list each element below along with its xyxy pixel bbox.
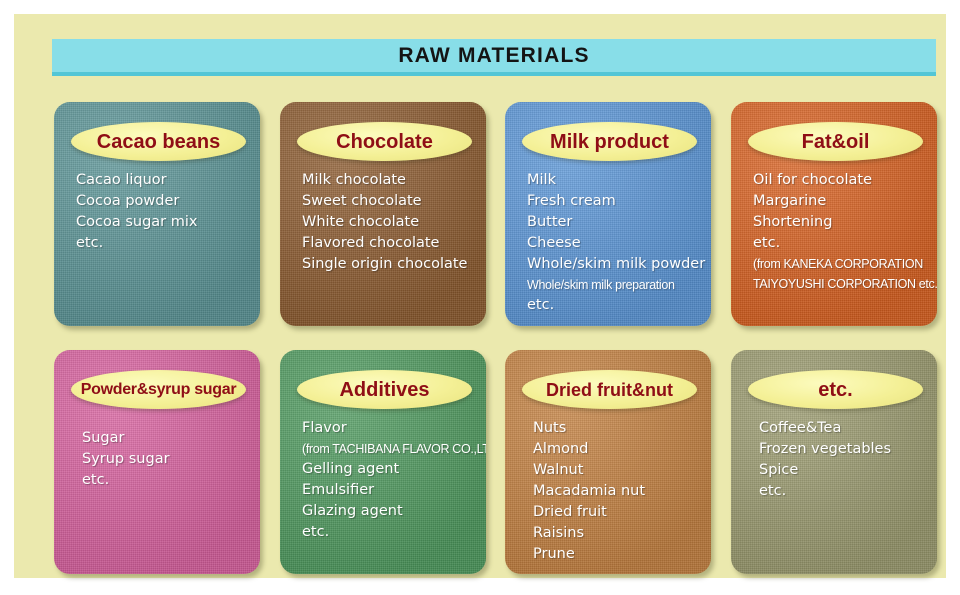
list-item: Margarine: [753, 191, 929, 212]
list-item: Butter: [527, 212, 703, 233]
list-item: (from KANEKA CORPORATION: [753, 254, 929, 274]
card-title-dried-fruit-and-nut: Dried fruit&nut: [546, 381, 673, 399]
list-item: Milk: [527, 170, 703, 191]
card-item-list-fat-and-oil: Oil for chocolateMargarineShorteningetc.…: [753, 170, 929, 294]
list-item: Milk chocolate: [302, 170, 478, 191]
list-item: Shortening: [753, 212, 929, 233]
list-item: TAIYOYUSHI CORPORATION etc.): [753, 274, 929, 294]
category-card-etc: etc.Coffee&TeaFrozen vegetablesSpiceetc.: [731, 350, 937, 574]
list-item: etc.: [759, 481, 929, 502]
card-item-list-cacao-beans: Cacao liquorCocoa powderCocoa sugar mixe…: [76, 170, 252, 254]
category-card-chocolate: ChocolateMilk chocolateSweet chocolateWh…: [280, 102, 486, 326]
card-item-list-etc: Coffee&TeaFrozen vegetablesSpiceetc.: [759, 418, 929, 502]
card-item-list-chocolate: Milk chocolateSweet chocolateWhite choco…: [302, 170, 478, 275]
list-item: Frozen vegetables: [759, 439, 929, 460]
card-title-ellipse-cacao-beans: Cacao beans: [71, 122, 246, 161]
list-item: Cocoa sugar mix: [76, 212, 252, 233]
card-title-cacao-beans: Cacao beans: [97, 132, 220, 152]
card-title-powder-and-syrup-sugar: Powder&syrup sugar: [81, 382, 237, 398]
card-title-ellipse-chocolate: Chocolate: [297, 122, 472, 161]
list-item: Emulsifier: [302, 480, 478, 501]
card-item-list-additives: Flavor(from TACHIBANA FLAVOR CO.,LTD)Gel…: [302, 418, 478, 543]
card-title-ellipse-fat-and-oil: Fat&oil: [748, 122, 923, 161]
list-item: (from TACHIBANA FLAVOR CO.,LTD): [302, 439, 478, 459]
card-title-milk-product: Milk product: [550, 132, 669, 152]
list-item: etc.: [527, 295, 703, 316]
content-panel: RAW MATERIALS Cacao beansCacao liquorCoc…: [14, 14, 946, 578]
list-item: Spice: [759, 460, 929, 481]
list-item: Cheese: [527, 233, 703, 254]
list-item: Gelling agent: [302, 459, 478, 480]
list-item: White chocolate: [302, 212, 478, 233]
list-item: Walnut: [533, 460, 703, 481]
list-item: Sweet chocolate: [302, 191, 478, 212]
card-item-list-powder-and-syrup-sugar: SugarSyrup sugaretc.: [82, 428, 252, 491]
page-title: RAW MATERIALS: [52, 39, 936, 72]
category-card-grid: Cacao beansCacao liquorCocoa powderCocoa…: [54, 102, 940, 574]
list-item: etc.: [82, 470, 252, 491]
category-card-fat-and-oil: Fat&oilOil for chocolateMargarineShorten…: [731, 102, 937, 326]
card-item-list-milk-product: MilkFresh creamButterCheeseWhole/skim mi…: [527, 170, 703, 316]
list-item: Dried fruit: [533, 502, 703, 523]
list-item: Syrup sugar: [82, 449, 252, 470]
card-title-chocolate: Chocolate: [336, 132, 433, 152]
list-item: Flavor: [302, 418, 478, 439]
card-item-list-dried-fruit-and-nut: NutsAlmondWalnutMacadamia nutDried fruit…: [533, 418, 703, 565]
list-item: Whole/skim milk powder: [527, 254, 703, 275]
list-item: Nuts: [533, 418, 703, 439]
list-item: Sugar: [82, 428, 252, 449]
header-banner: RAW MATERIALS: [52, 39, 936, 76]
list-item: Almond: [533, 439, 703, 460]
card-title-additives: Additives: [339, 380, 429, 400]
list-item: etc.: [302, 522, 478, 543]
card-title-ellipse-powder-and-syrup-sugar: Powder&syrup sugar: [71, 370, 246, 409]
category-card-dried-fruit-and-nut: Dried fruit&nutNutsAlmondWalnutMacadamia…: [505, 350, 711, 574]
category-card-milk-product: Milk productMilkFresh creamButterCheeseW…: [505, 102, 711, 326]
list-item: Prune: [533, 544, 703, 565]
list-item: Macadamia nut: [533, 481, 703, 502]
list-item: etc.: [753, 233, 929, 254]
list-item: Cacao liquor: [76, 170, 252, 191]
raw-materials-infographic: RAW MATERIALS Cacao beansCacao liquorCoc…: [0, 0, 960, 595]
list-item: etc.: [76, 233, 252, 254]
list-item: Fresh cream: [527, 191, 703, 212]
list-item: Cocoa powder: [76, 191, 252, 212]
card-title-ellipse-etc: etc.: [748, 370, 923, 409]
category-card-additives: AdditivesFlavor(from TACHIBANA FLAVOR CO…: [280, 350, 486, 574]
list-item: Coffee&Tea: [759, 418, 929, 439]
card-title-ellipse-additives: Additives: [297, 370, 472, 409]
card-title-fat-and-oil: Fat&oil: [802, 132, 870, 152]
category-card-cacao-beans: Cacao beansCacao liquorCocoa powderCocoa…: [54, 102, 260, 326]
list-item: Oil for chocolate: [753, 170, 929, 191]
card-title-ellipse-dried-fruit-and-nut: Dried fruit&nut: [522, 370, 697, 409]
card-title-ellipse-milk-product: Milk product: [522, 122, 697, 161]
list-item: Flavored chocolate: [302, 233, 478, 254]
list-item: Single origin chocolate: [302, 254, 478, 275]
category-card-powder-and-syrup-sugar: Powder&syrup sugarSugarSyrup sugaretc.: [54, 350, 260, 574]
list-item: Whole/skim milk preparation: [527, 275, 703, 295]
card-title-etc: etc.: [818, 380, 852, 400]
list-item: Raisins: [533, 523, 703, 544]
list-item: Glazing agent: [302, 501, 478, 522]
